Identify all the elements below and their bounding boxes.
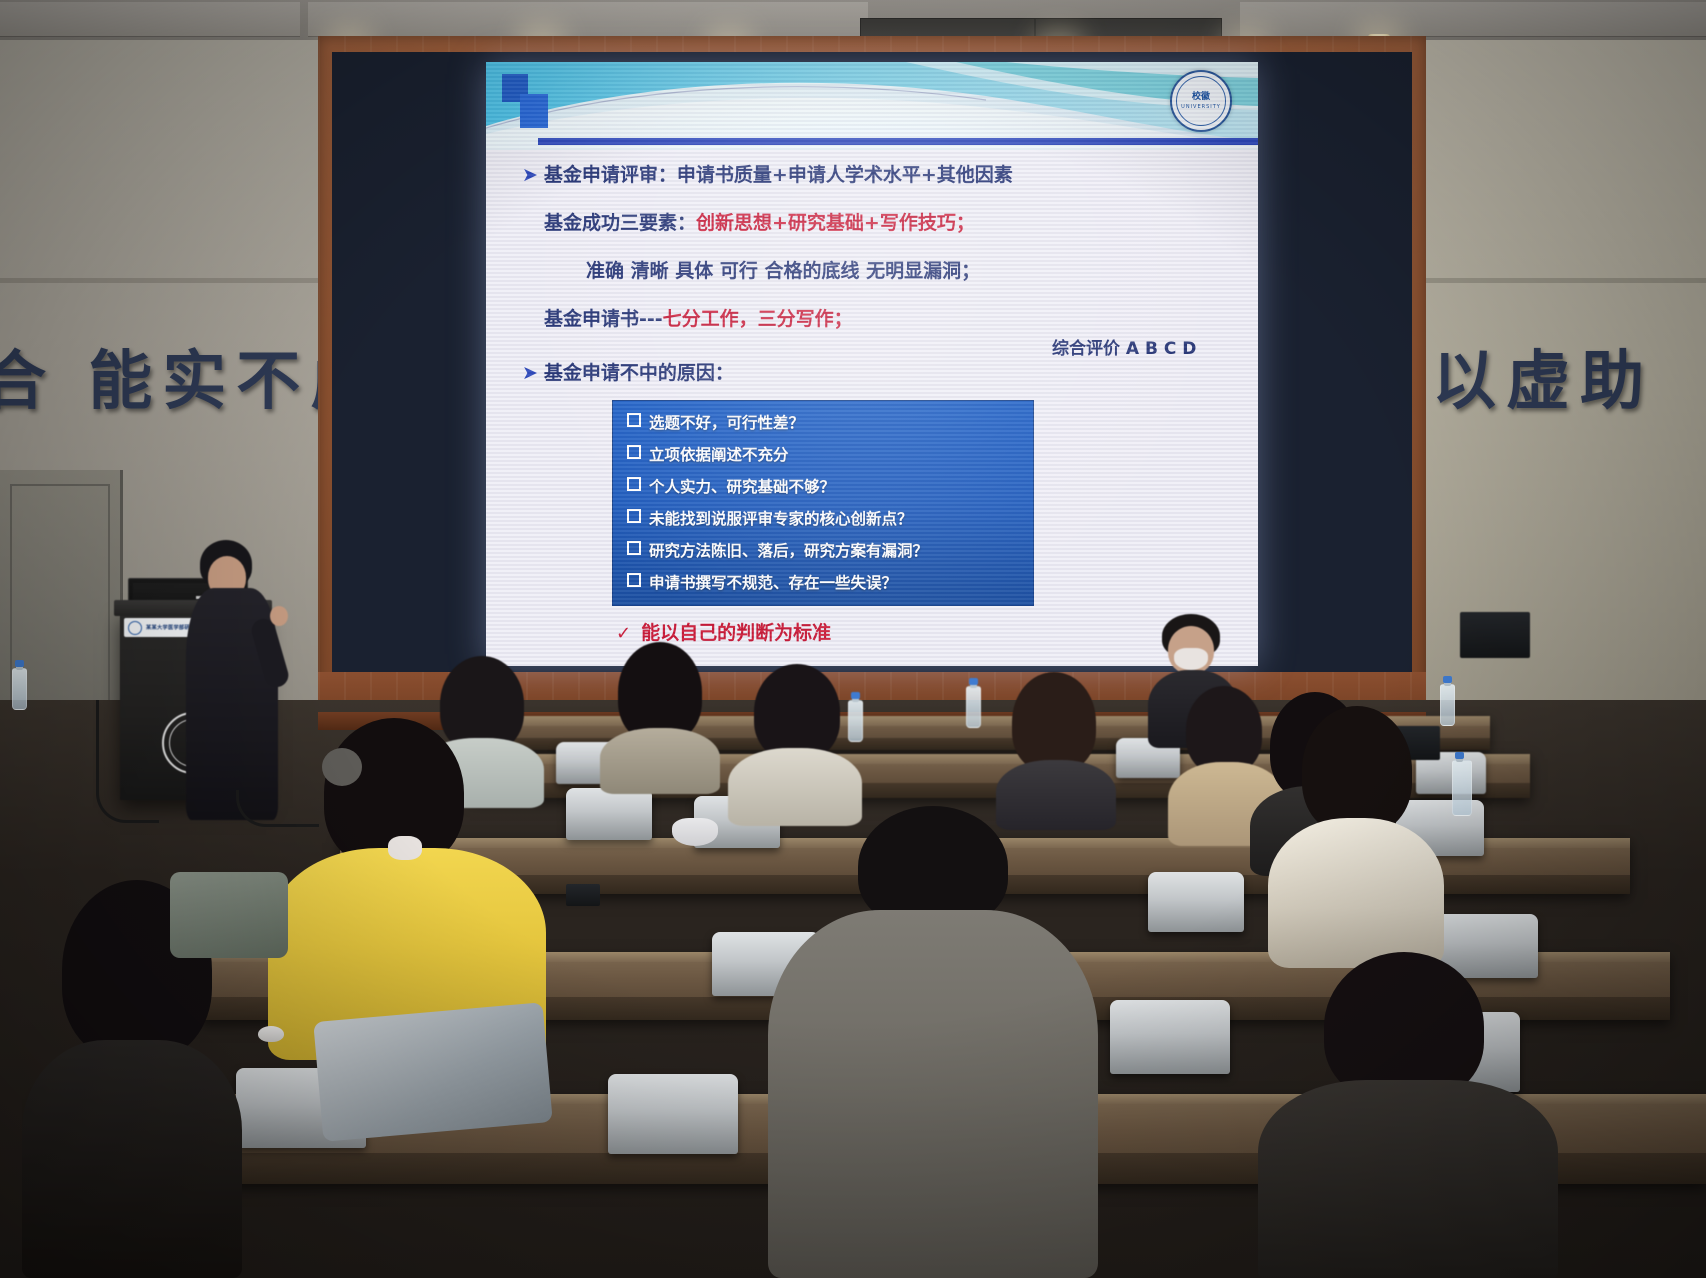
grade-note: 综合评价 A B C D [1052, 334, 1196, 359]
checkbox-icon [627, 445, 641, 459]
audience-member [1268, 706, 1444, 966]
checkbox-icon [627, 477, 641, 491]
slide-line-5-text: 基金申请不中的原因： [544, 362, 734, 384]
blue-box-item: 立项依据阐述不充分 [627, 443, 789, 465]
slide-line-1: ➤基金申请评审：申请书质量+申请人学术水平+其他因素 [522, 160, 1013, 187]
projected-slide: 校徽 UNIVERSITY ➤基金申请评审：申请书质量+申请人学术水平+其他因素… [486, 62, 1258, 666]
slide-line-4-emphasis: 七分工作，三分写作； [663, 308, 853, 330]
face-mask [388, 836, 422, 860]
blue-box-item: 申请书撰写不规范、存在一些失误？ [627, 571, 897, 593]
phone-on-desk[interactable] [566, 884, 600, 906]
slide-line-5: ➤基金申请不中的原因： [522, 358, 734, 385]
chair[interactable] [1110, 1000, 1230, 1074]
slide-line-4: 基金申请书---七分工作，三分写作； [544, 304, 853, 331]
water-bottle[interactable] [966, 686, 981, 728]
checkbox-icon [627, 573, 641, 587]
slide-line-4-prefix: 基金申请书--- [544, 308, 663, 330]
slide-footer-red-note: ✓能以自己的判断为标准 [616, 618, 831, 645]
header-rule [538, 138, 1258, 145]
blue-box-item: 研究方法陈旧、落后，研究方案有漏洞？ [627, 539, 928, 561]
audience-member [768, 806, 1098, 1278]
logo-sub-text: UNIVERSITY [1181, 104, 1221, 110]
blue-box-item: 个人实力、研究基础不够？ [627, 475, 835, 497]
chair[interactable] [1148, 872, 1244, 932]
slide-line-3: 准确 清晰 具体 可行 合格的底线 无明显漏洞； [586, 256, 980, 283]
logo-mark-text: 校徽 [1192, 93, 1210, 102]
speaker-hand [270, 606, 288, 626]
slide-header-banner: 校徽 UNIVERSITY [486, 62, 1258, 150]
reasons-blue-box: 选题不好，可行性差？ 立项依据阐述不充分 个人实力、研究基础不够？ 未能找到说服… [612, 400, 1034, 606]
bullet-arrow-icon: ➤ [522, 362, 538, 384]
floor-cable [96, 700, 159, 823]
checkbox-icon [627, 413, 641, 427]
slide-line-1-text: 基金申请评审：申请书质量+申请人学术水平+其他因素 [544, 164, 1013, 186]
bullet-arrow-icon: ➤ [522, 164, 538, 186]
checkbox-icon [627, 509, 641, 523]
blue-box-item-label: 个人实力、研究基础不够？ [649, 478, 835, 496]
header-wave-graphic [486, 62, 1258, 150]
chair[interactable] [608, 1074, 738, 1154]
audience-member [600, 642, 720, 792]
slide-line-2: 基金成功三要素：创新思想+研究基础+写作技巧； [544, 208, 975, 235]
wall-slogan-right: 以虚助 [1432, 330, 1654, 422]
blue-box-item-label: 选题不好，可行性差？ [649, 414, 804, 432]
blue-box-item-label: 未能找到说服评审专家的核心创新点？ [649, 510, 913, 528]
slide-line-2-prefix: 基金成功三要素： [544, 212, 696, 234]
lecture-hall-photo: 合 能实不虚 以虚助 [0, 0, 1706, 1278]
blue-box-item: 选题不好，可行性差？ [627, 411, 804, 433]
water-bottle[interactable] [1452, 760, 1472, 816]
audience-member [728, 664, 862, 824]
audience-member [1258, 952, 1558, 1278]
blue-box-item-label: 研究方法陈旧、落后，研究方案有漏洞？ [649, 542, 928, 560]
water-bottle[interactable] [12, 668, 27, 710]
slide-body: ➤基金申请评审：申请书质量+申请人学术水平+其他因素 基金成功三要素：创新思想+… [486, 150, 1258, 666]
face-mask-on-desk [672, 818, 718, 846]
computer-mouse[interactable] [258, 1026, 284, 1042]
backpack[interactable] [170, 872, 288, 958]
chair[interactable] [566, 788, 652, 840]
tote-bag[interactable] [313, 1002, 553, 1142]
blue-box-item: 未能找到说服评审专家的核心创新点？ [627, 507, 913, 529]
blue-box-item-label: 申请书撰写不规范、存在一些失误？ [649, 574, 897, 592]
audience-member [996, 672, 1116, 828]
header-square-accent [520, 94, 548, 128]
blue-box-item-label: 立项依据阐述不充分 [649, 446, 789, 464]
check-mark-icon: ✓ [616, 623, 631, 644]
university-logo-icon: 校徽 UNIVERSITY [1170, 70, 1232, 132]
checkbox-icon [627, 541, 641, 555]
slide-footer-red-text: 能以自己的判断为标准 [641, 622, 831, 644]
hair-tie [322, 748, 362, 786]
podium-banner-logo-icon [128, 621, 142, 635]
desk-monitor [1460, 612, 1530, 658]
slide-line-2-emphasis: 创新思想+研究基础+写作技巧； [696, 212, 975, 234]
